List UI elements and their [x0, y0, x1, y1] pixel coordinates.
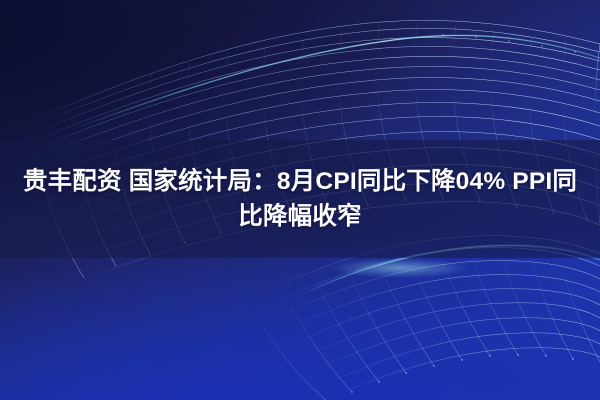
- banner-image: 贵丰配资 国家统计局：8月CPI同比下降04% PPI同比降幅收窄: [0, 0, 600, 400]
- mesh-lower-rib-lines: [250, 233, 600, 400]
- page-title: 贵丰配资 国家统计局：8月CPI同比下降04% PPI同比降幅收窄: [0, 164, 600, 234]
